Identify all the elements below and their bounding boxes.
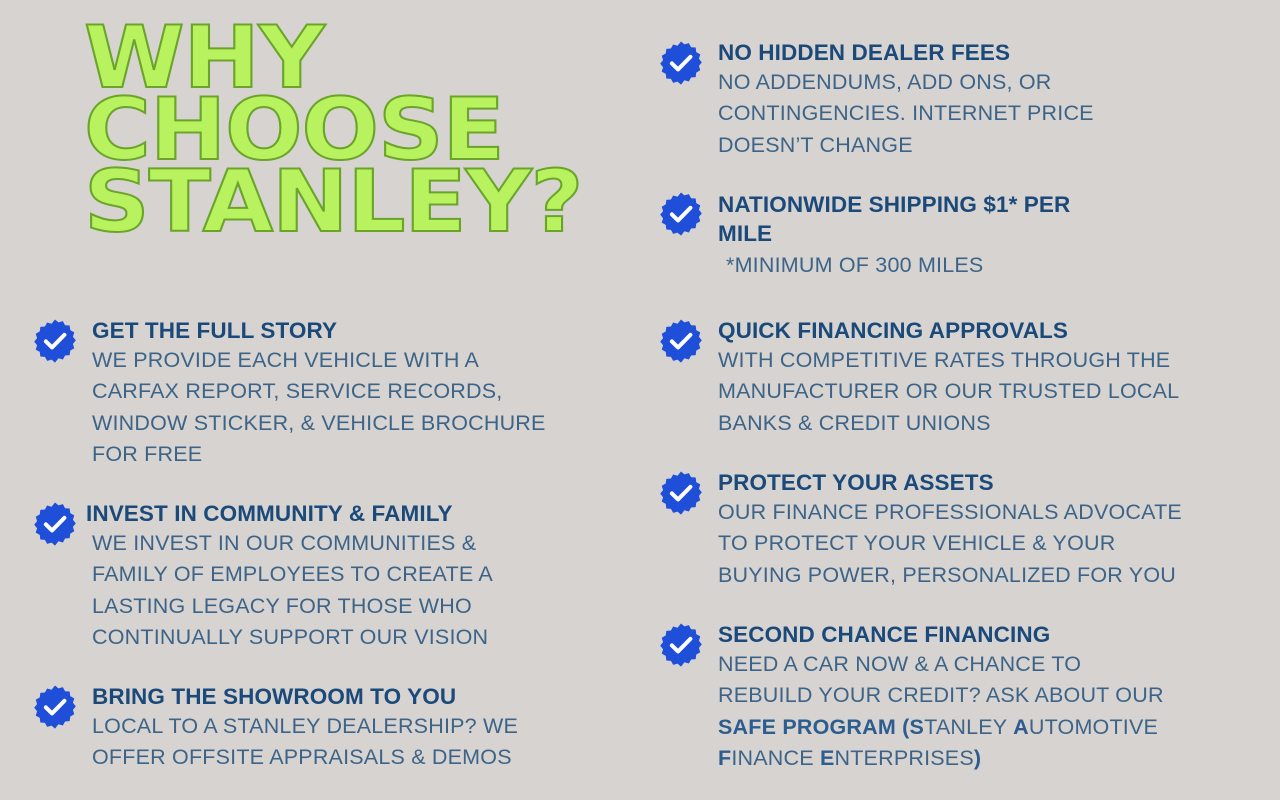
check-badge-icon (32, 318, 78, 364)
safe-acronym-plain-1: TANLEY (924, 715, 1013, 739)
check-badge-icon (32, 501, 78, 547)
list-item-title: SECOND CHANCE FINANCING (718, 622, 1250, 648)
check-badge-icon (658, 191, 704, 237)
list-item-text: *MINIMUM OF 300 MILES (718, 250, 1250, 281)
list-item-title: PROTECT YOUR ASSETS (718, 470, 1250, 496)
list-item: QUICK FINANCING APPROVALS WITH COMPETITI… (658, 318, 1250, 439)
safe-acronym-plain-4: NTERPRISES (835, 746, 974, 770)
page-title: WHY CHOOSE STANLEY? (84, 22, 635, 239)
text-line-1: NEED A CAR NOW & A CHANCE TO (718, 652, 1081, 676)
list-item-text: NO ADDENDUMS, ADD ONS, OR CONTINGENCIES.… (718, 67, 1250, 161)
check-badge-icon (658, 470, 704, 516)
check-badge-icon (32, 684, 78, 730)
safe-acronym-plain-3: INANCE (731, 746, 820, 770)
check-badge-icon (658, 40, 704, 86)
list-item: SECOND CHANCE FINANCING NEED A CAR NOW &… (658, 622, 1250, 774)
list-item-title: GET THE FULL STORY (92, 318, 612, 344)
list-item-title: NATIONWIDE SHIPPING $1* PER MILE (718, 191, 1250, 249)
list-item-text-multi: NEED A CAR NOW & A CHANCE TOREBUILD YOUR… (718, 649, 1250, 774)
list-item-text: WITH COMPETITIVE RATES THROUGH THE MANUF… (718, 345, 1250, 439)
safe-acronym-bold-5: ) (974, 746, 981, 770)
list-item: PROTECT YOUR ASSETS OUR FINANCE PROFESSI… (658, 470, 1250, 591)
check-badge-icon (658, 318, 704, 364)
list-item-title: INVEST IN COMMUNITY & FAMILY (86, 501, 612, 527)
text-line-2: REBUILD YOUR CREDIT? ASK ABOUT OUR (718, 683, 1164, 707)
list-item: NATIONWIDE SHIPPING $1* PER MILE *MINIMU… (658, 191, 1250, 281)
list-item: GET THE FULL STORY WE PROVIDE EACH VEHIC… (32, 318, 612, 470)
list-item: BRING THE SHOWROOM TO YOU LOCAL TO A STA… (32, 684, 612, 774)
safe-acronym-bold-1: SAFE PROGRAM (S (718, 715, 924, 739)
list-item-text: WE INVEST IN OUR COMMUNITIES & FAMILY OF… (92, 528, 612, 653)
list-item-text: OUR FINANCE PROFESSIONALS ADVOCATE TO PR… (718, 497, 1250, 591)
list-item-text: LOCAL TO A STANLEY DEALERSHIP? WE OFFER … (92, 711, 612, 773)
why-choose-stanley-poster: WHY CHOOSE STANLEY? GET THE FULL STORY W… (0, 0, 1280, 800)
list-item-title: QUICK FINANCING APPROVALS (718, 318, 1250, 344)
list-item-title: NO HIDDEN DEALER FEES (718, 40, 1250, 66)
safe-acronym-bold-3: F (718, 746, 731, 770)
safe-acronym-plain-2: UTOMOTIVE (1029, 715, 1158, 739)
safe-acronym-bold-4: E (820, 746, 835, 770)
safe-acronym-bold-2: A (1013, 715, 1029, 739)
list-item: NO HIDDEN DEALER FEES NO ADDENDUMS, ADD … (658, 40, 1250, 161)
check-badge-icon (658, 622, 704, 668)
list-item: INVEST IN COMMUNITY & FAMILY WE INVEST I… (32, 501, 612, 653)
list-item-text: WE PROVIDE EACH VEHICLE WITH A CARFAX RE… (92, 345, 612, 470)
list-item-title: BRING THE SHOWROOM TO YOU (92, 684, 612, 710)
